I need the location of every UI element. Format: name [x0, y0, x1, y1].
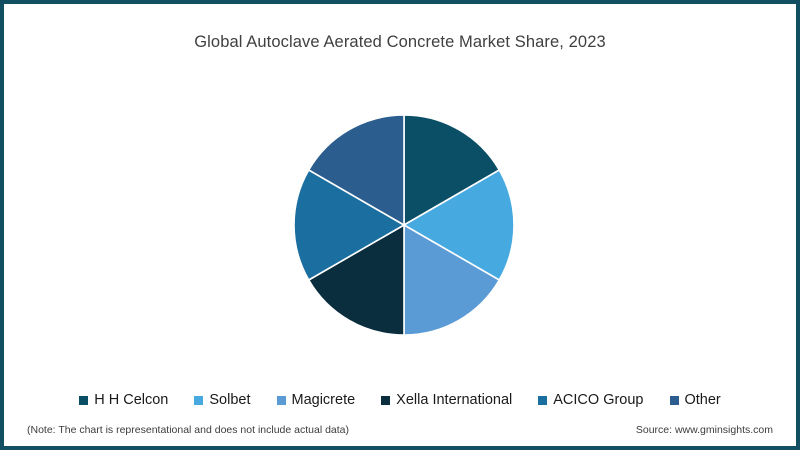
legend-item-label: Magicrete [292, 392, 356, 408]
legend-swatch-icon [381, 396, 390, 405]
chart-title: Global Autoclave Aerated Concrete Market… [0, 33, 800, 52]
legend-swatch-icon [79, 396, 88, 405]
legend-swatch-icon [277, 396, 286, 405]
legend-item[interactable]: Magicrete [277, 392, 356, 408]
chart-note: (Note: The chart is representational and… [27, 424, 349, 436]
pie-slices [294, 115, 514, 335]
chart-page: Global Autoclave Aerated Concrete Market… [0, 0, 800, 450]
legend-item[interactable]: Xella International [381, 392, 512, 408]
chart-legend: H H CelconSolbetMagicreteXella Internati… [0, 392, 800, 408]
legend-item[interactable]: Solbet [194, 392, 250, 408]
pie-chart [294, 115, 514, 335]
legend-item[interactable]: Other [670, 392, 721, 408]
legend-item-label: Other [685, 392, 721, 408]
legend-item-label: Solbet [209, 392, 250, 408]
legend-item-label: ACICO Group [553, 392, 643, 408]
legend-swatch-icon [670, 396, 679, 405]
legend-item-label: Xella International [396, 392, 512, 408]
legend-item[interactable]: ACICO Group [538, 392, 643, 408]
legend-item[interactable]: H H Celcon [79, 392, 168, 408]
chart-source: Source: www.gminsights.com [636, 424, 773, 436]
legend-item-label: H H Celcon [94, 392, 168, 408]
legend-swatch-icon [194, 396, 203, 405]
pie-chart-svg [294, 115, 514, 335]
legend-swatch-icon [538, 396, 547, 405]
